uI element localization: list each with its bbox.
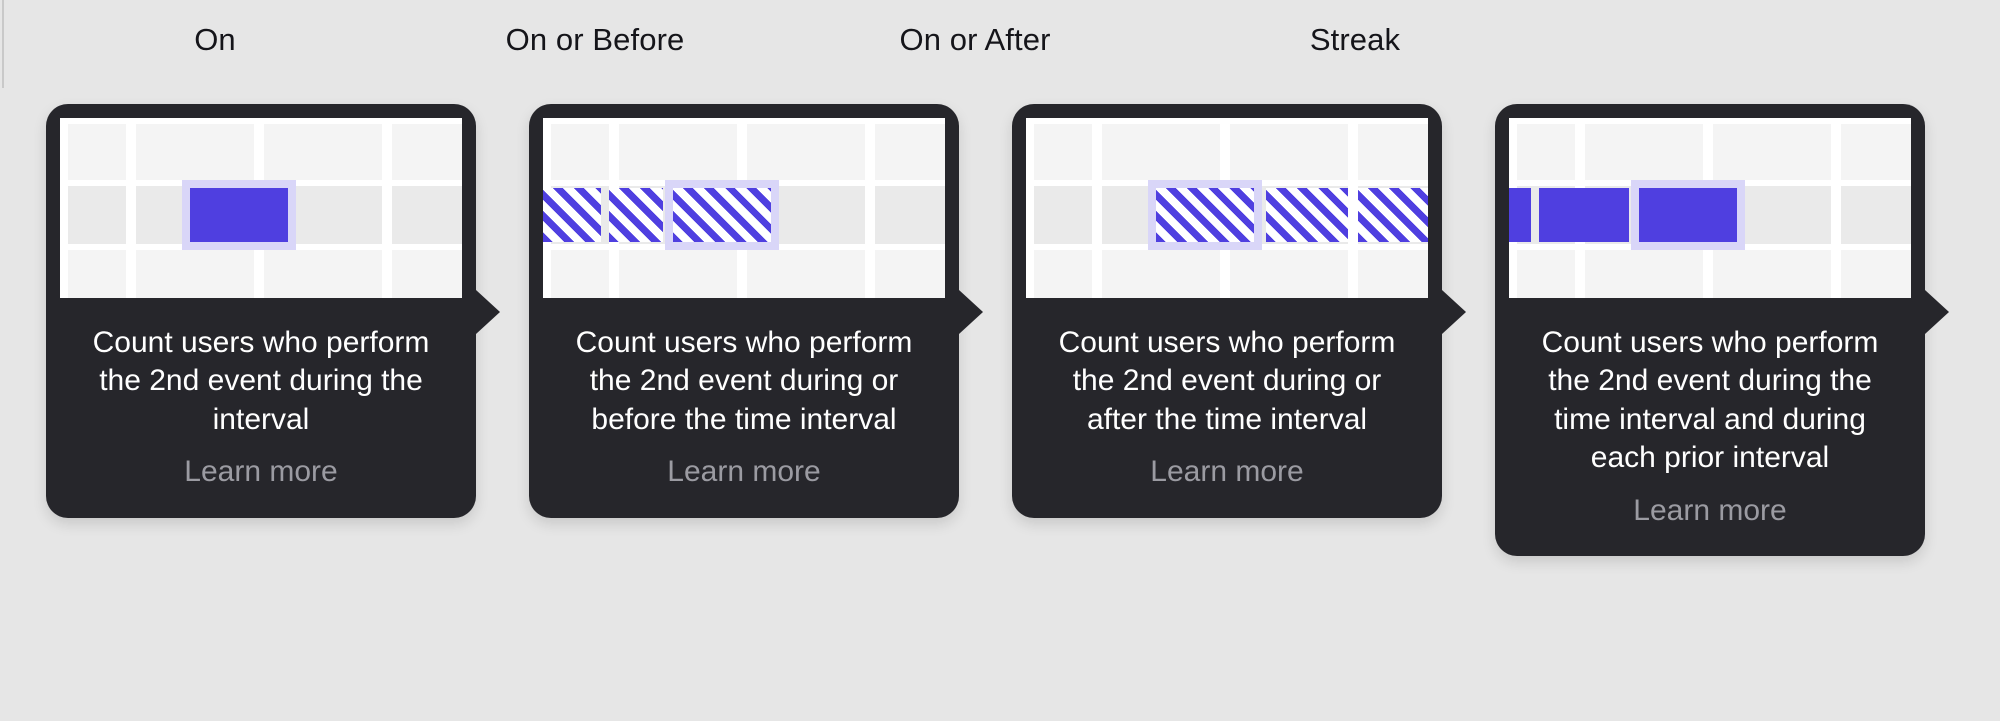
grid-cell bbox=[875, 186, 945, 244]
event-mark-hatched bbox=[609, 188, 663, 242]
card-pointer-arrow bbox=[476, 290, 500, 334]
event-mark-solid bbox=[1539, 188, 1629, 242]
card-on[interactable]: Count users who perform the 2nd event du… bbox=[46, 104, 476, 518]
grid-row-top bbox=[543, 124, 945, 180]
learn-more-link[interactable]: Learn more bbox=[1042, 453, 1412, 491]
grid-cell bbox=[392, 186, 462, 244]
grid-cell bbox=[392, 124, 462, 180]
grid-cell bbox=[1034, 186, 1092, 244]
column-header-streak: Streak bbox=[1250, 22, 1460, 58]
event-mark-solid bbox=[1639, 188, 1737, 242]
grid-cell bbox=[1841, 186, 1911, 244]
illustration-on-or-before bbox=[543, 118, 945, 298]
card-body-on-or-after: Count users who perform the 2nd event du… bbox=[1026, 298, 1428, 518]
grid-cell bbox=[392, 250, 462, 298]
grid-cell bbox=[68, 124, 126, 180]
event-mark-hatched bbox=[673, 188, 771, 242]
grid-cell bbox=[1034, 250, 1092, 298]
grid-cell bbox=[136, 124, 254, 180]
grid-cell bbox=[551, 124, 609, 180]
learn-more-link[interactable]: Learn more bbox=[76, 453, 446, 491]
grid-cell bbox=[1102, 124, 1220, 180]
event-mark-solid bbox=[1509, 188, 1531, 242]
card-body-streak: Count users who perform the 2nd event du… bbox=[1509, 298, 1911, 556]
grid-row-bottom bbox=[1026, 250, 1428, 298]
grid-cell bbox=[1230, 124, 1348, 180]
grid-cell bbox=[747, 250, 865, 298]
column-header-on-or-before: On or Before bbox=[490, 22, 700, 58]
illustration-on bbox=[60, 118, 462, 298]
grid-cell bbox=[1841, 124, 1911, 180]
column-header-strip: On On or Before On or After Streak bbox=[0, 0, 2000, 90]
grid-row-bottom bbox=[60, 250, 462, 298]
card-description: Count users who perform the 2nd event du… bbox=[576, 326, 913, 436]
grid-cell bbox=[1034, 124, 1092, 180]
card-on-or-before[interactable]: Count users who perform the 2nd event du… bbox=[529, 104, 959, 518]
card-description: Count users who perform the 2nd event du… bbox=[1059, 326, 1396, 436]
card-description: Count users who perform the 2nd event du… bbox=[93, 326, 430, 436]
grid-row-top bbox=[60, 124, 462, 180]
card-body-on-or-before: Count users who perform the 2nd event du… bbox=[543, 298, 945, 518]
card-pointer-arrow bbox=[1442, 290, 1466, 334]
event-mark-hatched bbox=[1156, 188, 1254, 242]
card-body-on: Count users who perform the 2nd event du… bbox=[60, 298, 462, 518]
grid-cell bbox=[68, 186, 126, 244]
illustration-on-or-after bbox=[1026, 118, 1428, 298]
grid-cell bbox=[747, 124, 865, 180]
grid-cell bbox=[551, 250, 609, 298]
grid-cell bbox=[1358, 124, 1428, 180]
grid-row-bottom bbox=[543, 250, 945, 298]
grid-row-bottom bbox=[1509, 250, 1911, 298]
grid-cell bbox=[1585, 124, 1703, 180]
grid-cell bbox=[875, 250, 945, 298]
grid-cell bbox=[1713, 250, 1831, 298]
grid-cell bbox=[1841, 250, 1911, 298]
card-pointer-arrow bbox=[959, 290, 983, 334]
grid-cell bbox=[1517, 250, 1575, 298]
event-mark-hatched bbox=[1358, 188, 1428, 242]
grid-cell bbox=[875, 124, 945, 180]
grid-cell bbox=[264, 250, 382, 298]
left-divider-rule bbox=[2, 0, 4, 88]
grid-cell bbox=[136, 250, 254, 298]
grid-cell bbox=[1102, 250, 1220, 298]
column-header-on-or-after: On or After bbox=[870, 22, 1080, 58]
card-streak[interactable]: Count users who perform the 2nd event du… bbox=[1495, 104, 1925, 556]
event-mark-hatched bbox=[1266, 188, 1348, 242]
grid-row-top bbox=[1026, 124, 1428, 180]
grid-cell bbox=[619, 250, 737, 298]
card-description: Count users who perform the 2nd event du… bbox=[1542, 326, 1879, 474]
column-header-on: On bbox=[110, 22, 320, 58]
grid-cell bbox=[1517, 124, 1575, 180]
grid-cell bbox=[1230, 250, 1348, 298]
event-mark-solid bbox=[190, 188, 288, 242]
grid-row-top bbox=[1509, 124, 1911, 180]
event-mark-hatched bbox=[543, 188, 601, 242]
learn-more-link[interactable]: Learn more bbox=[559, 453, 929, 491]
grid-cell bbox=[68, 250, 126, 298]
illustration-streak bbox=[1509, 118, 1911, 298]
card-pointer-arrow bbox=[1925, 290, 1949, 334]
grid-cell bbox=[264, 124, 382, 180]
grid-cell bbox=[1358, 250, 1428, 298]
card-on-or-after[interactable]: Count users who perform the 2nd event du… bbox=[1012, 104, 1442, 518]
grid-cell bbox=[1713, 124, 1831, 180]
grid-cell bbox=[1585, 250, 1703, 298]
learn-more-link[interactable]: Learn more bbox=[1525, 492, 1895, 530]
grid-cell bbox=[619, 124, 737, 180]
